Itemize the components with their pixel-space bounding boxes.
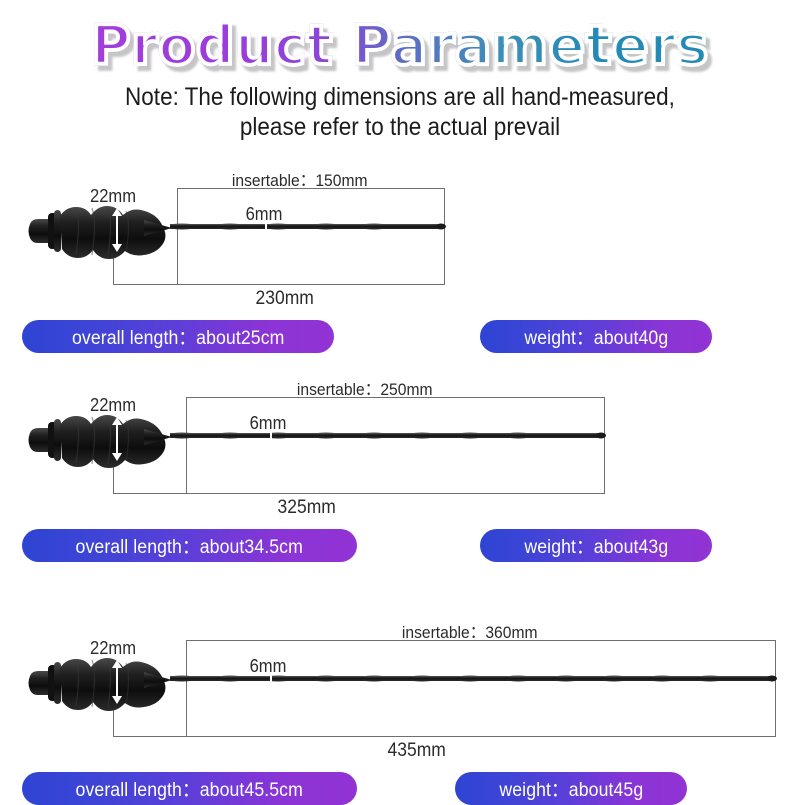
shaft-diameter-label-3: 6mm bbox=[250, 656, 287, 677]
page-title-text: Product Parameters bbox=[91, 14, 709, 77]
overall-length-pill-1-text: overall length：about25cm bbox=[72, 323, 284, 350]
product-parameters-page: Product Parameters Note: The following d… bbox=[0, 0, 800, 800]
shaft-diameter-label-2: 6mm bbox=[250, 413, 287, 434]
measurement-note: Note: The following dimensions are all h… bbox=[40, 82, 760, 142]
weight-pill-2[interactable]: weight：about43g bbox=[480, 529, 712, 562]
bulb-diameter-arrow-2 bbox=[110, 417, 124, 461]
page-title: Product Parameters bbox=[0, 14, 800, 77]
overall-length-pill-3[interactable]: overall length：about45.5cm bbox=[22, 772, 357, 805]
shaft-diameter-tick-3 bbox=[270, 674, 272, 688]
weight-pill-2-text: weight：about43g bbox=[524, 532, 668, 559]
bulb-diameter-arrow-3 bbox=[110, 660, 124, 704]
weight-pill-3-text: weight：about45g bbox=[499, 775, 643, 802]
shaft-diameter-tick-1 bbox=[265, 222, 267, 236]
shaft-diameter-tick-2 bbox=[270, 431, 272, 445]
bulb-diameter-label-2: 22mm bbox=[90, 395, 136, 416]
overall-length-pill-3-text: overall length：about45.5cm bbox=[76, 775, 303, 802]
weight-pill-1[interactable]: weight：about40g bbox=[480, 320, 712, 353]
overall-length-pill-1[interactable]: overall length：about25cm bbox=[22, 320, 334, 353]
bulb-diameter-label-3: 22mm bbox=[90, 638, 136, 659]
overall-length-pill-2-text: overall length：about34.5cm bbox=[76, 532, 303, 559]
weight-pill-1-text: weight：about40g bbox=[524, 323, 668, 350]
product-illustration-3 bbox=[26, 648, 782, 718]
total-length-label-2: 325mm bbox=[278, 497, 336, 519]
weight-pill-3[interactable]: weight：about45g bbox=[455, 772, 687, 805]
total-length-label-1: 230mm bbox=[256, 288, 314, 310]
shaft-diameter-label-1: 6mm bbox=[246, 204, 283, 225]
bulb-diameter-arrow-1 bbox=[110, 208, 124, 252]
overall-length-pill-2[interactable]: overall length：about34.5cm bbox=[22, 529, 357, 562]
bulb-diameter-label-1: 22mm bbox=[90, 186, 136, 207]
total-length-label-3: 435mm bbox=[388, 740, 446, 762]
